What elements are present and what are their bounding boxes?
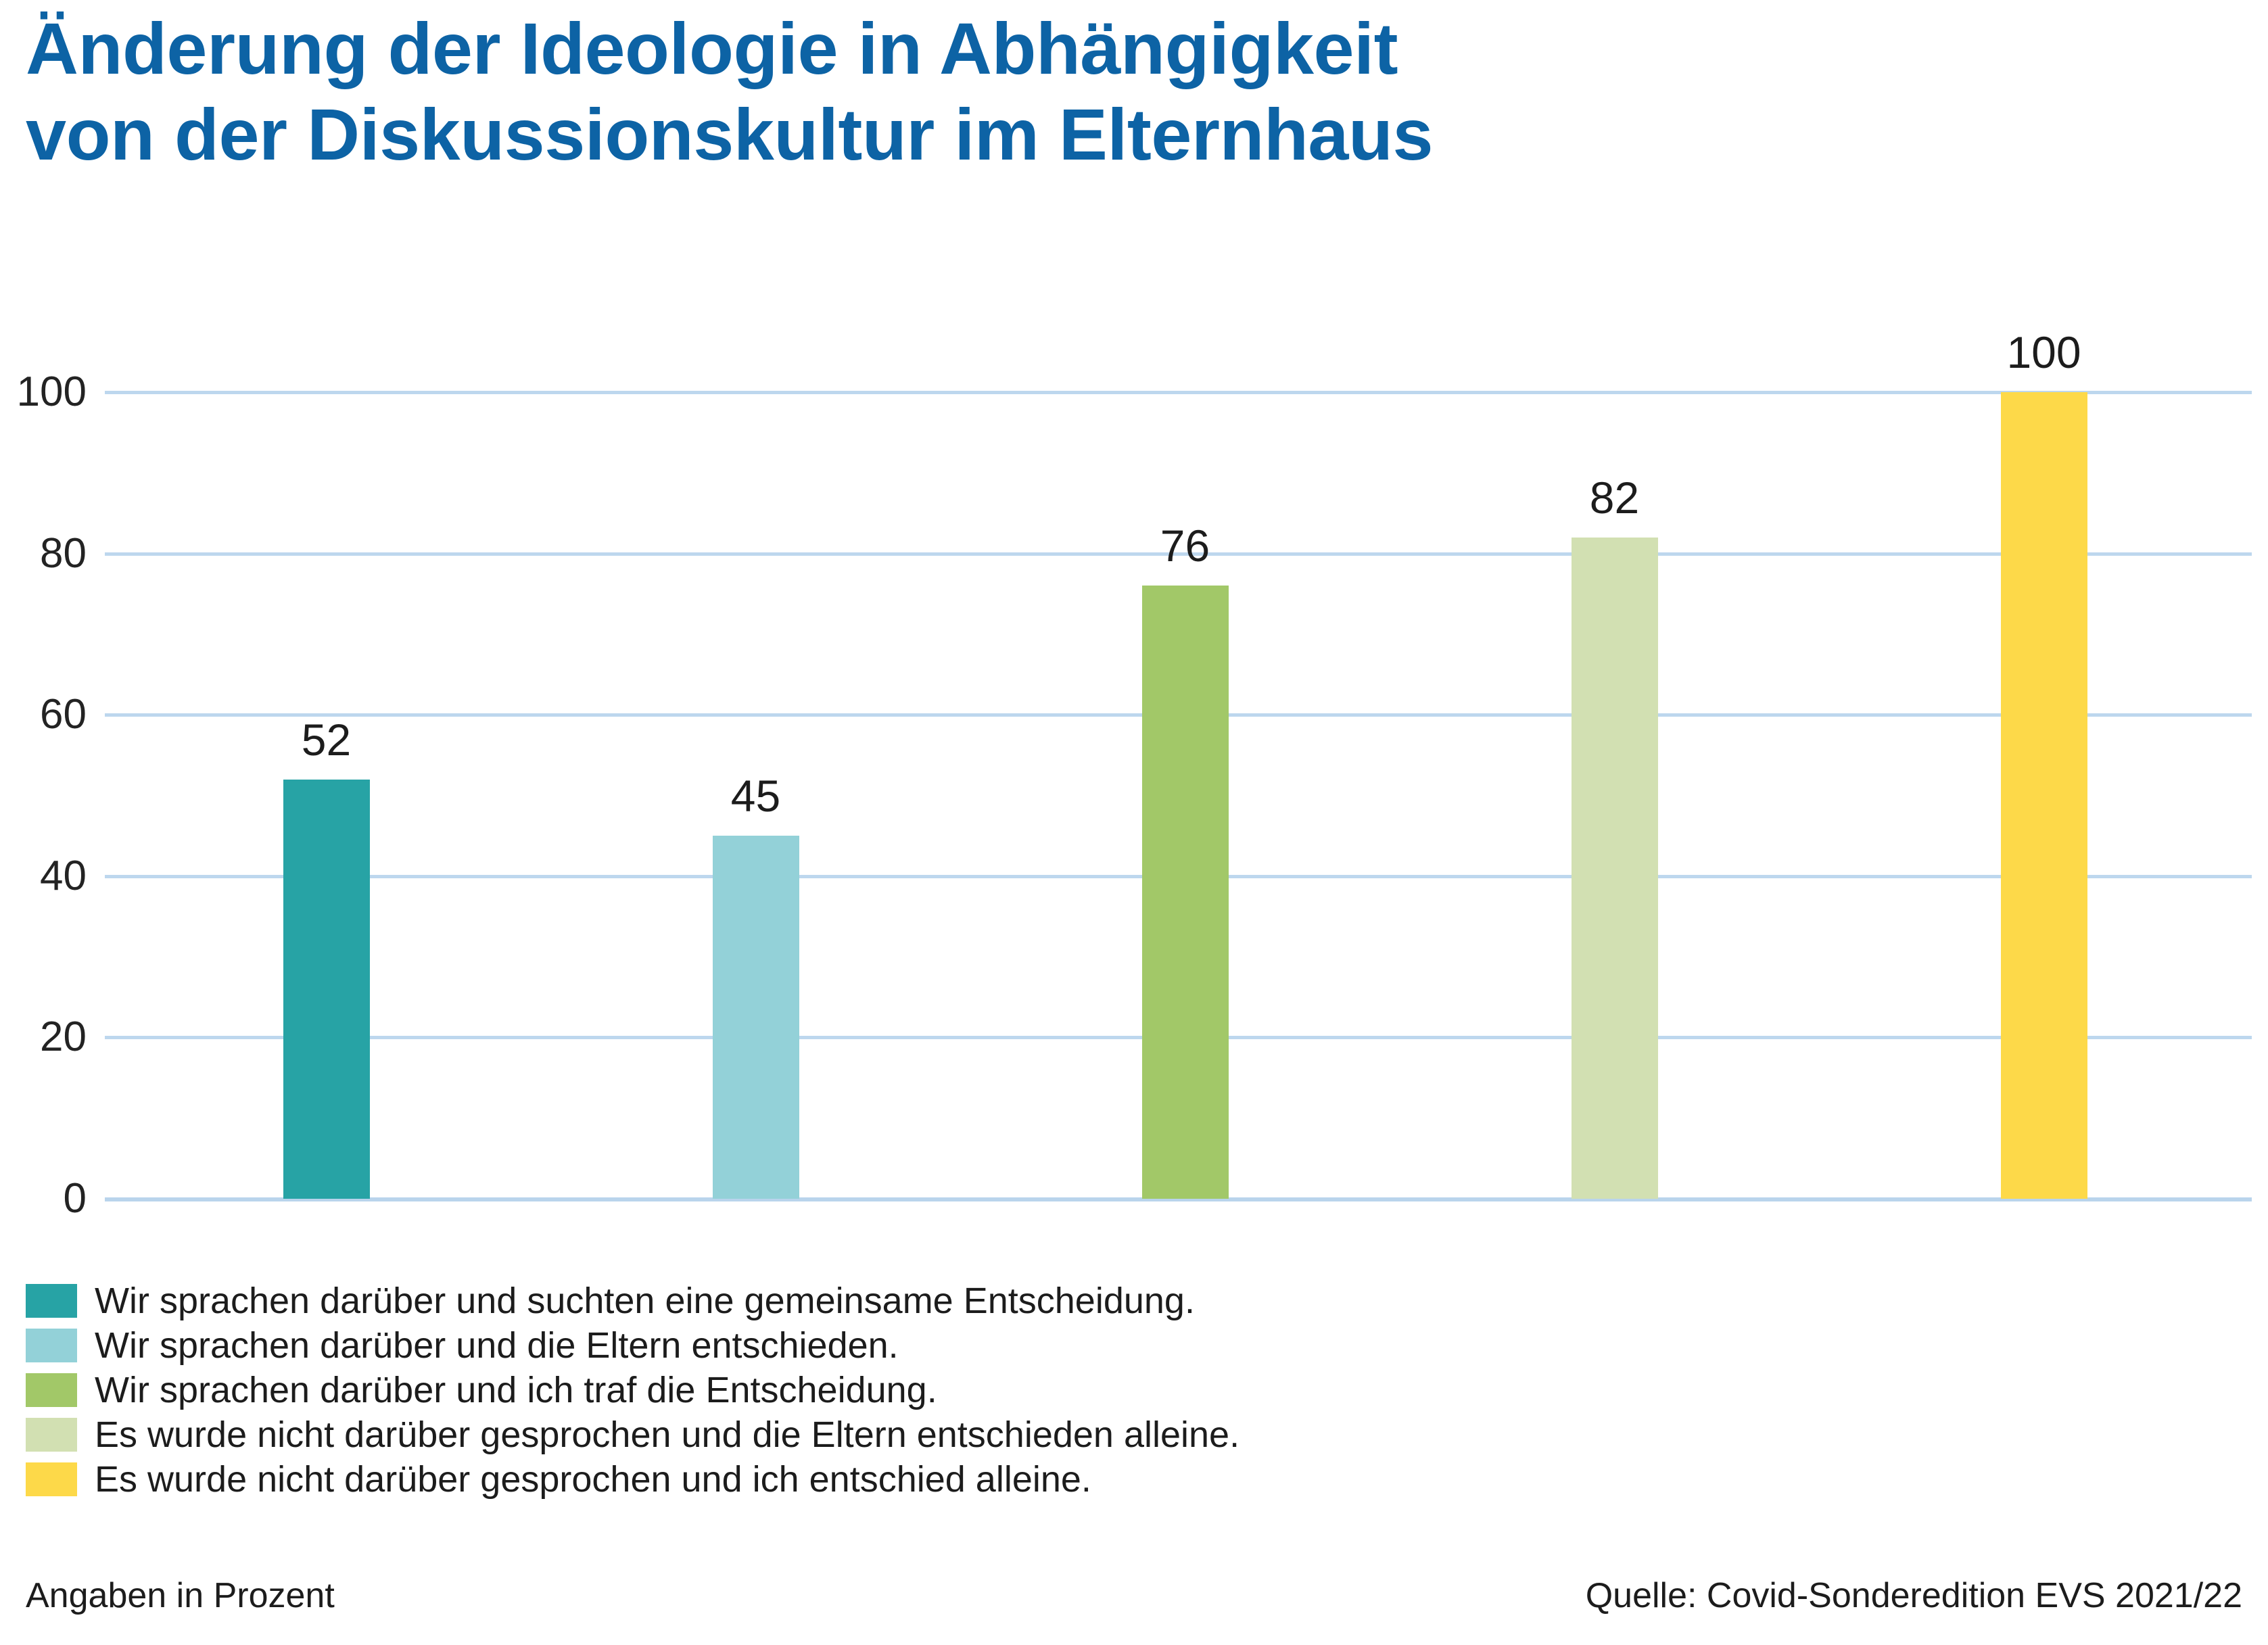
bar-slot: 52 [283,284,370,1199]
y-axis-tick-label: 0 [0,1178,87,1220]
legend-item-label: Wir sprachen darüber und ich traf die En… [95,1372,937,1408]
bar[interactable] [2001,392,2087,1199]
bar-value-label: 45 [731,773,780,818]
bar-series: 52457682100 [105,284,2252,1199]
bar-value-label: 52 [302,717,351,762]
legend-item[interactable]: Wir sprachen darüber und suchten eine ge… [26,1280,1784,1322]
bar-value-label: 100 [2006,330,2081,375]
bar-chart: 020406080100 52457682100 [0,284,2268,1244]
source-note: Quelle: Covid-Sonderedition EVS 2021/22 [1586,1575,2242,1616]
page-title: Änderung der Ideologie in Abhängigkeit v… [26,5,1851,178]
chart-footer: Angaben in Prozent Quelle: Covid-Sondere… [26,1575,2242,1616]
bar-value-label: 82 [1590,475,1639,520]
legend-swatch-icon [26,1284,77,1318]
legend-item-label: Wir sprachen darüber und suchten eine ge… [95,1283,1195,1319]
chart-legend: Wir sprachen darüber und suchten eine ge… [26,1280,1784,1503]
legend-swatch-icon [26,1418,77,1452]
legend-item-label: Wir sprachen darüber und die Eltern ents… [95,1327,899,1364]
bar[interactable] [1572,538,1658,1199]
legend-item[interactable]: Wir sprachen darüber und die Eltern ents… [26,1325,1784,1366]
legend-item[interactable]: Wir sprachen darüber und ich traf die En… [26,1369,1784,1411]
y-axis-tick-label: 60 [0,694,87,736]
bar-slot: 76 [1142,284,1229,1199]
legend-item[interactable]: Es wurde nicht darüber gesprochen und di… [26,1414,1784,1456]
bar-value-label: 76 [1160,523,1210,568]
y-axis-tick-label: 100 [0,371,87,413]
y-axis-tick-label: 20 [0,1016,87,1058]
legend-item-label: Es wurde nicht darüber gesprochen und di… [95,1416,1239,1453]
legend-item[interactable]: Es wurde nicht darüber gesprochen und ic… [26,1458,1784,1500]
legend-swatch-icon [26,1373,77,1407]
bar[interactable] [283,780,370,1199]
legend-swatch-icon [26,1329,77,1362]
units-note: Angaben in Prozent [26,1575,335,1616]
legend-item-label: Es wurde nicht darüber gesprochen und ic… [95,1461,1091,1498]
bar[interactable] [1142,586,1229,1199]
y-axis-tick-label: 40 [0,855,87,897]
bar-slot: 45 [713,284,799,1199]
legend-swatch-icon [26,1462,77,1496]
bar-slot: 82 [1572,284,1658,1199]
y-axis-tick-label: 80 [0,533,87,575]
bar[interactable] [713,836,799,1199]
bar-slot: 100 [2001,284,2087,1199]
